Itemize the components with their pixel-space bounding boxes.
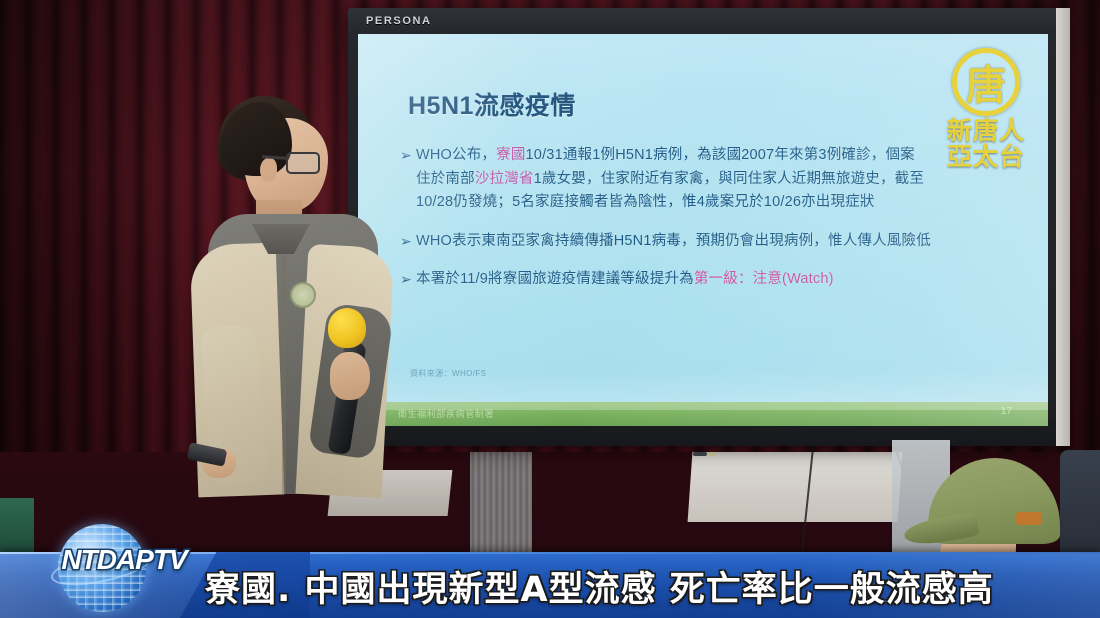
bullet-span: 10/28仍發燒；5名家庭接觸者皆為陰性，惟4歲案兄於10/26亦出現症狀 [416, 194, 875, 210]
slide-bullet-text: 本署於11/9將寮國旅遊疫情建議等級提升為第一級：注意(Watch) [416, 268, 834, 292]
slide-bullet-text: WHO公布，寮國10/31通報1例H5N1病例，為該國2007年來第3例確診，個… [416, 144, 924, 215]
bullet-line: WHO公布，寮國10/31通報1例H5N1病例，為該國2007年來第3例確診，個… [416, 144, 924, 168]
video-frame: PERSONA H5N1流感疫情 ➢ WHO公布，寮國10/31通報1例H5N1… [0, 0, 1100, 618]
display-right-edge [1056, 8, 1070, 446]
desk-surface-right [688, 452, 903, 522]
presenter-left-hand [330, 352, 370, 400]
bullet-span-highlight: 沙拉灣省 [475, 171, 534, 187]
bullet-span: WHO公布， [416, 147, 496, 163]
presentation-display: PERSONA H5N1流感疫情 ➢ WHO公布，寮國10/31通報1例H5N1… [348, 8, 1058, 446]
display-power-led [710, 452, 714, 456]
bullet-span: 10/31通報1例H5N1病例，為該國2007年來第3例確診，個案 [526, 147, 915, 163]
slide-source-note: 資料來源：WHO/FS [410, 368, 486, 379]
glasses-icon [286, 152, 320, 174]
bullet-line: 10/28仍發燒；5名家庭接觸者皆為陰性，惟4歲案兄於10/26亦出現症狀 [416, 191, 924, 215]
channel-logo: NTDAPTV [48, 518, 200, 610]
green-object-left [0, 498, 34, 558]
news-headline: 寮國. 中國出現新型A型流感 死亡率比一般流感高 [205, 558, 1085, 614]
cap-logo-patch [1016, 512, 1042, 525]
slide-screen: H5N1流感疫情 ➢ WHO公布，寮國10/31通報1例H5N1病例，為該國20… [358, 34, 1048, 426]
slide-bullet-item: ➢ WHO表示東南亞家禽持續傳播H5N1病毒，預期仍會出現病例，惟人傳人風險低 [400, 230, 1020, 254]
bullet-span: WHO表示東南亞家禽持續傳播H5N1病毒，預期仍會出現病例，惟人傳人風險低 [416, 233, 931, 249]
presenter-ear [260, 158, 277, 182]
ntd-tang-character: 唐 [952, 48, 1020, 116]
slide-title: H5N1流感疫情 [408, 86, 576, 122]
ntd-wordmark-line1: 新唐人 [930, 118, 1042, 144]
channel-logo-text: NTDAPTV [48, 544, 200, 576]
bullet-span: 住於南部 [416, 171, 475, 187]
ntd-watermark-logo: 唐 新唐人 亞太台 [930, 48, 1042, 174]
bullet-line: 本署於11/9將寮國旅遊疫情建議等級提升為第一級：注意(Watch) [416, 268, 834, 292]
bullet-line: WHO表示東南亞家禽持續傳播H5N1病毒，預期仍會出現病例，惟人傳人風險低 [416, 230, 931, 254]
bullet-line: 住於南部沙拉灣省1歲女嬰，住家附近有家禽，與同住家人近期無旅遊史，截至 [416, 168, 924, 192]
presenter [190, 96, 405, 496]
slide-page-number: 17 [1001, 406, 1012, 417]
pillar [470, 452, 532, 562]
slide-bullet-item: ➢ WHO公布，寮國10/31通報1例H5N1病例，為該國2007年來第3例確診… [400, 144, 1020, 215]
slide-footer-bar: 衛生福利部疾病管制署 17 [358, 402, 1048, 426]
slide-bullet-list: ➢ WHO公布，寮國10/31通報1例H5N1病例，為該國2007年來第3例確診… [400, 144, 1020, 307]
presenter-vest-seam [282, 256, 286, 494]
ntd-wordmark-line2: 亞太台 [930, 144, 1042, 170]
presenter-badge-emblem [290, 282, 316, 308]
bullet-span: 本署於11/9將寮國旅遊疫情建議等級提升為 [416, 271, 694, 287]
display-brand-label: PERSONA [366, 15, 432, 27]
bullet-span-highlight: 寮國 [496, 147, 525, 163]
bullet-span-highlight: 第一級：注意(Watch) [694, 271, 834, 287]
bullet-span: 1歲女嬰，住家附近有家禽，與同住家人近期無旅遊史，截至 [534, 171, 924, 187]
slide-bullet-item: ➢ 本署於11/9將寮國旅遊疫情建議等級提升為第一級：注意(Watch) [400, 268, 1020, 292]
slide-bullet-text: WHO表示東南亞家禽持續傳播H5N1病毒，預期仍會出現病例，惟人傳人風險低 [416, 230, 931, 254]
slide-footer-text: 衛生福利部疾病管制署 [398, 407, 494, 420]
display-ir-sensor [693, 452, 707, 456]
microphone-icon [328, 308, 366, 348]
ntd-wordmark: 新唐人 亞太台 [930, 118, 1042, 170]
